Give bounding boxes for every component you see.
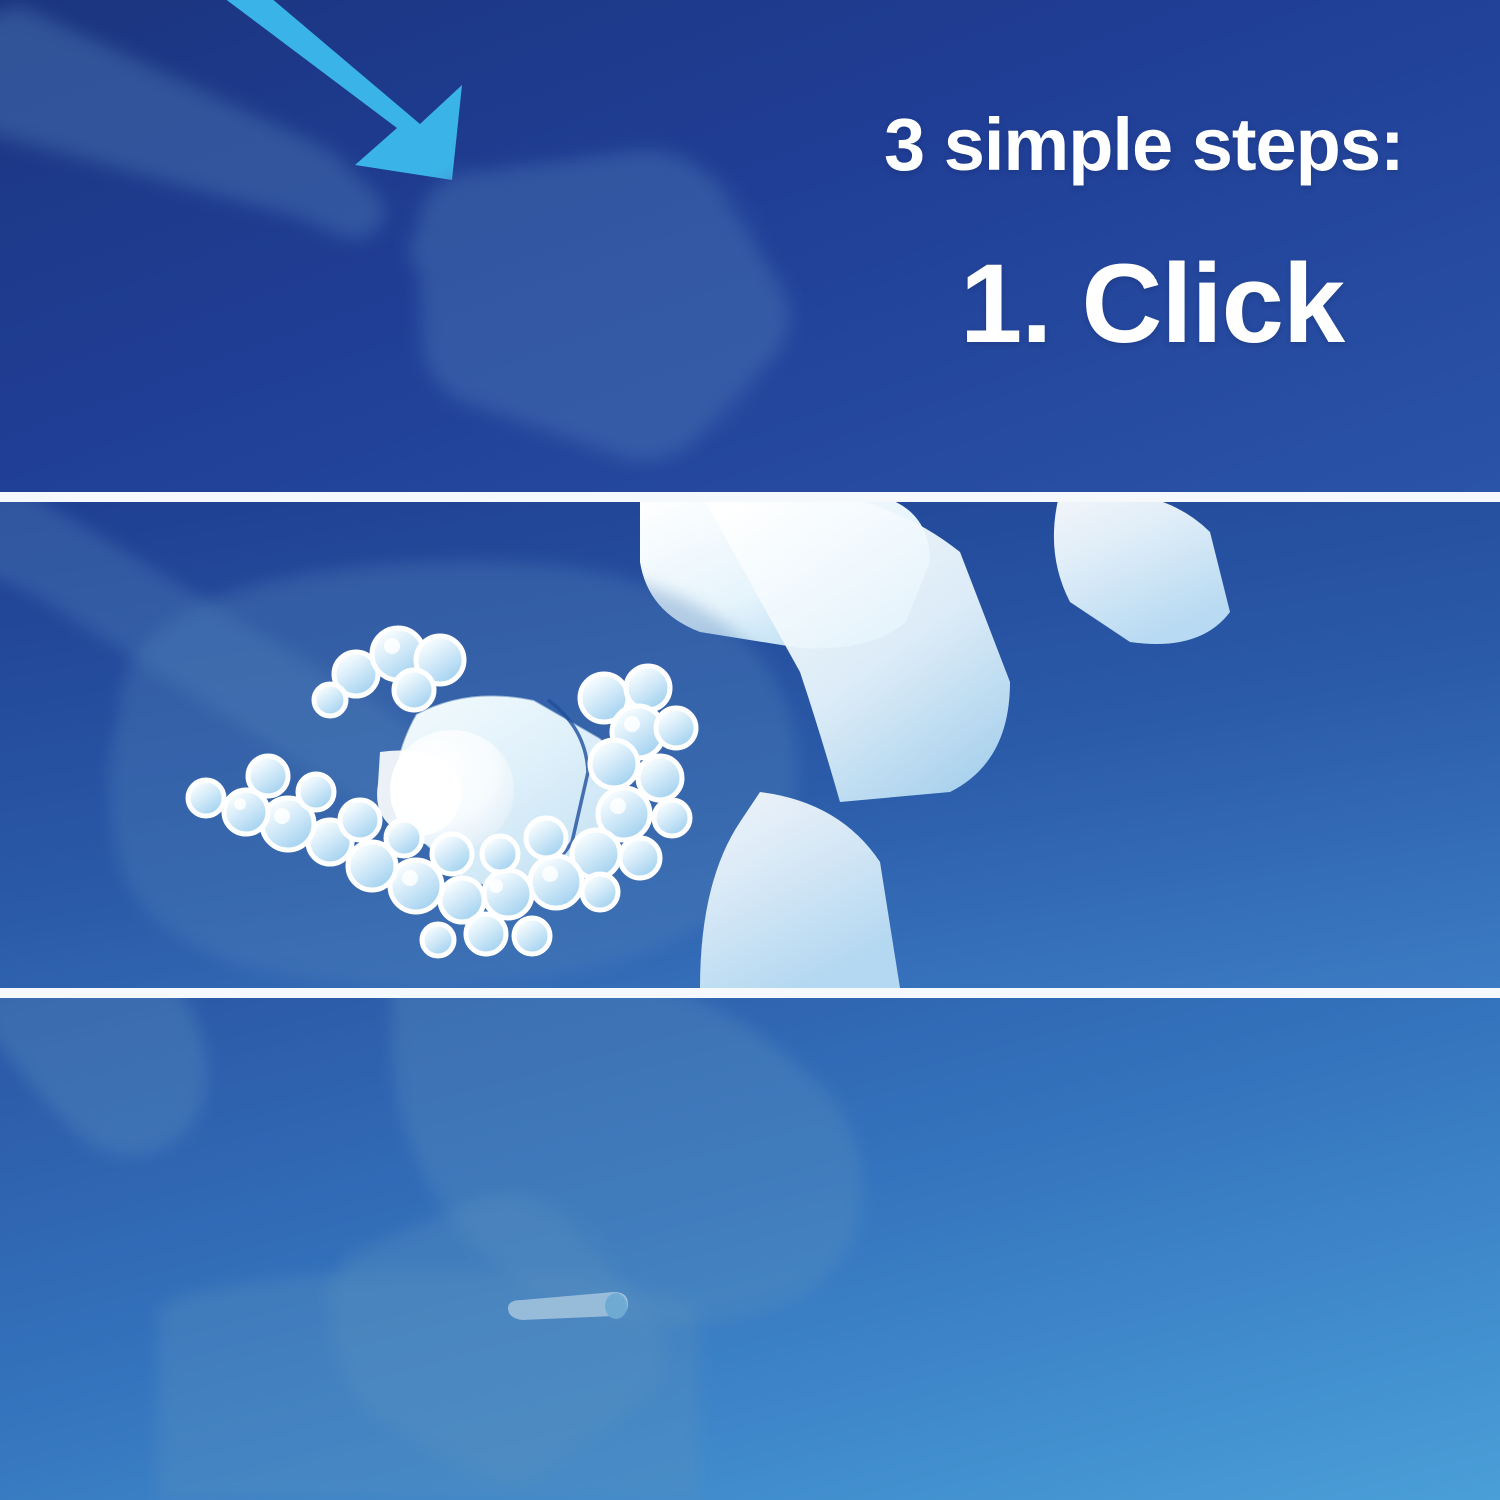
cleaning-pad-icon [410,152,789,460]
wand-handle-icon [0,998,207,1156]
panel-swish: 2. Swish [0,502,1500,988]
panel-toss: 3. Toss [0,998,1500,1500]
panel-click: 3 simple steps: 1. Click [0,0,1500,492]
panel-divider-1 [0,492,1500,502]
panel-toss-artwork [0,998,1500,1500]
infographic-root: 3 simple steps: 1. Click [0,0,1500,1500]
wand-handle-icon [0,6,385,240]
panel-divider-2 [0,988,1500,998]
step-1-title: 1. Click [960,248,1344,360]
panel-swish-artwork [0,502,1500,988]
page-title: 3 simple steps: [884,108,1404,182]
